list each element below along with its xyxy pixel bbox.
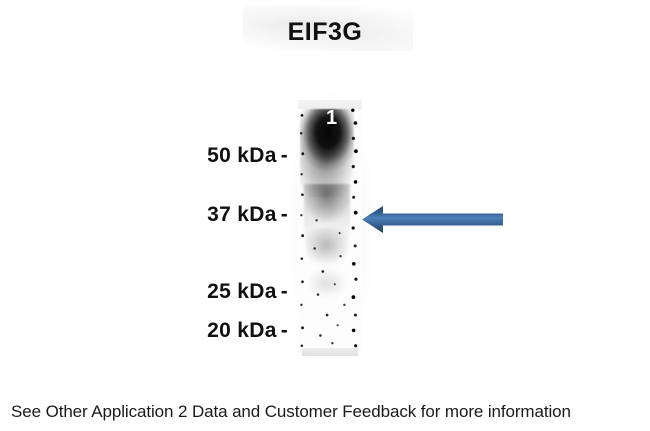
- marker-dash-50kda: -: [281, 144, 288, 168]
- blot-lane-image: 1: [298, 100, 362, 356]
- arrow-shape: [362, 206, 503, 233]
- blot-left-edge-speckles: [298, 100, 306, 356]
- marker-label-50kda: 50 kDa-: [207, 144, 288, 168]
- marker-label-25kda: 25 kDa-: [207, 280, 288, 304]
- marker-dash-25kda: -: [281, 280, 288, 304]
- lane-number-label: 1: [326, 108, 337, 128]
- western-blot-figure: EIF3G 50 kDa- 37 kDa- 25 kDa- 20 kDa- 1: [0, 0, 650, 431]
- marker-text-37kda: 37 kDa: [207, 203, 277, 226]
- marker-dash-20kda: -: [281, 319, 288, 343]
- marker-text-50kda: 50 kDa: [207, 144, 277, 167]
- marker-text-20kda: 20 kDa: [207, 319, 277, 342]
- marker-text-25kda: 25 kDa: [207, 280, 277, 303]
- figure-caption: See Other Application 2 Data and Custome…: [11, 402, 645, 422]
- marker-label-20kda: 20 kDa-: [207, 319, 288, 343]
- blot-right-edge-speckles: [348, 100, 360, 356]
- marker-dash-37kda: -: [281, 203, 288, 227]
- marker-label-37kda: 37 kDa-: [207, 203, 288, 227]
- page-title: EIF3G: [0, 18, 650, 47]
- blot-grain-speckles: [306, 100, 354, 356]
- blot-bottom-strip: [302, 348, 358, 356]
- band-pointer-arrow: [361, 204, 504, 235]
